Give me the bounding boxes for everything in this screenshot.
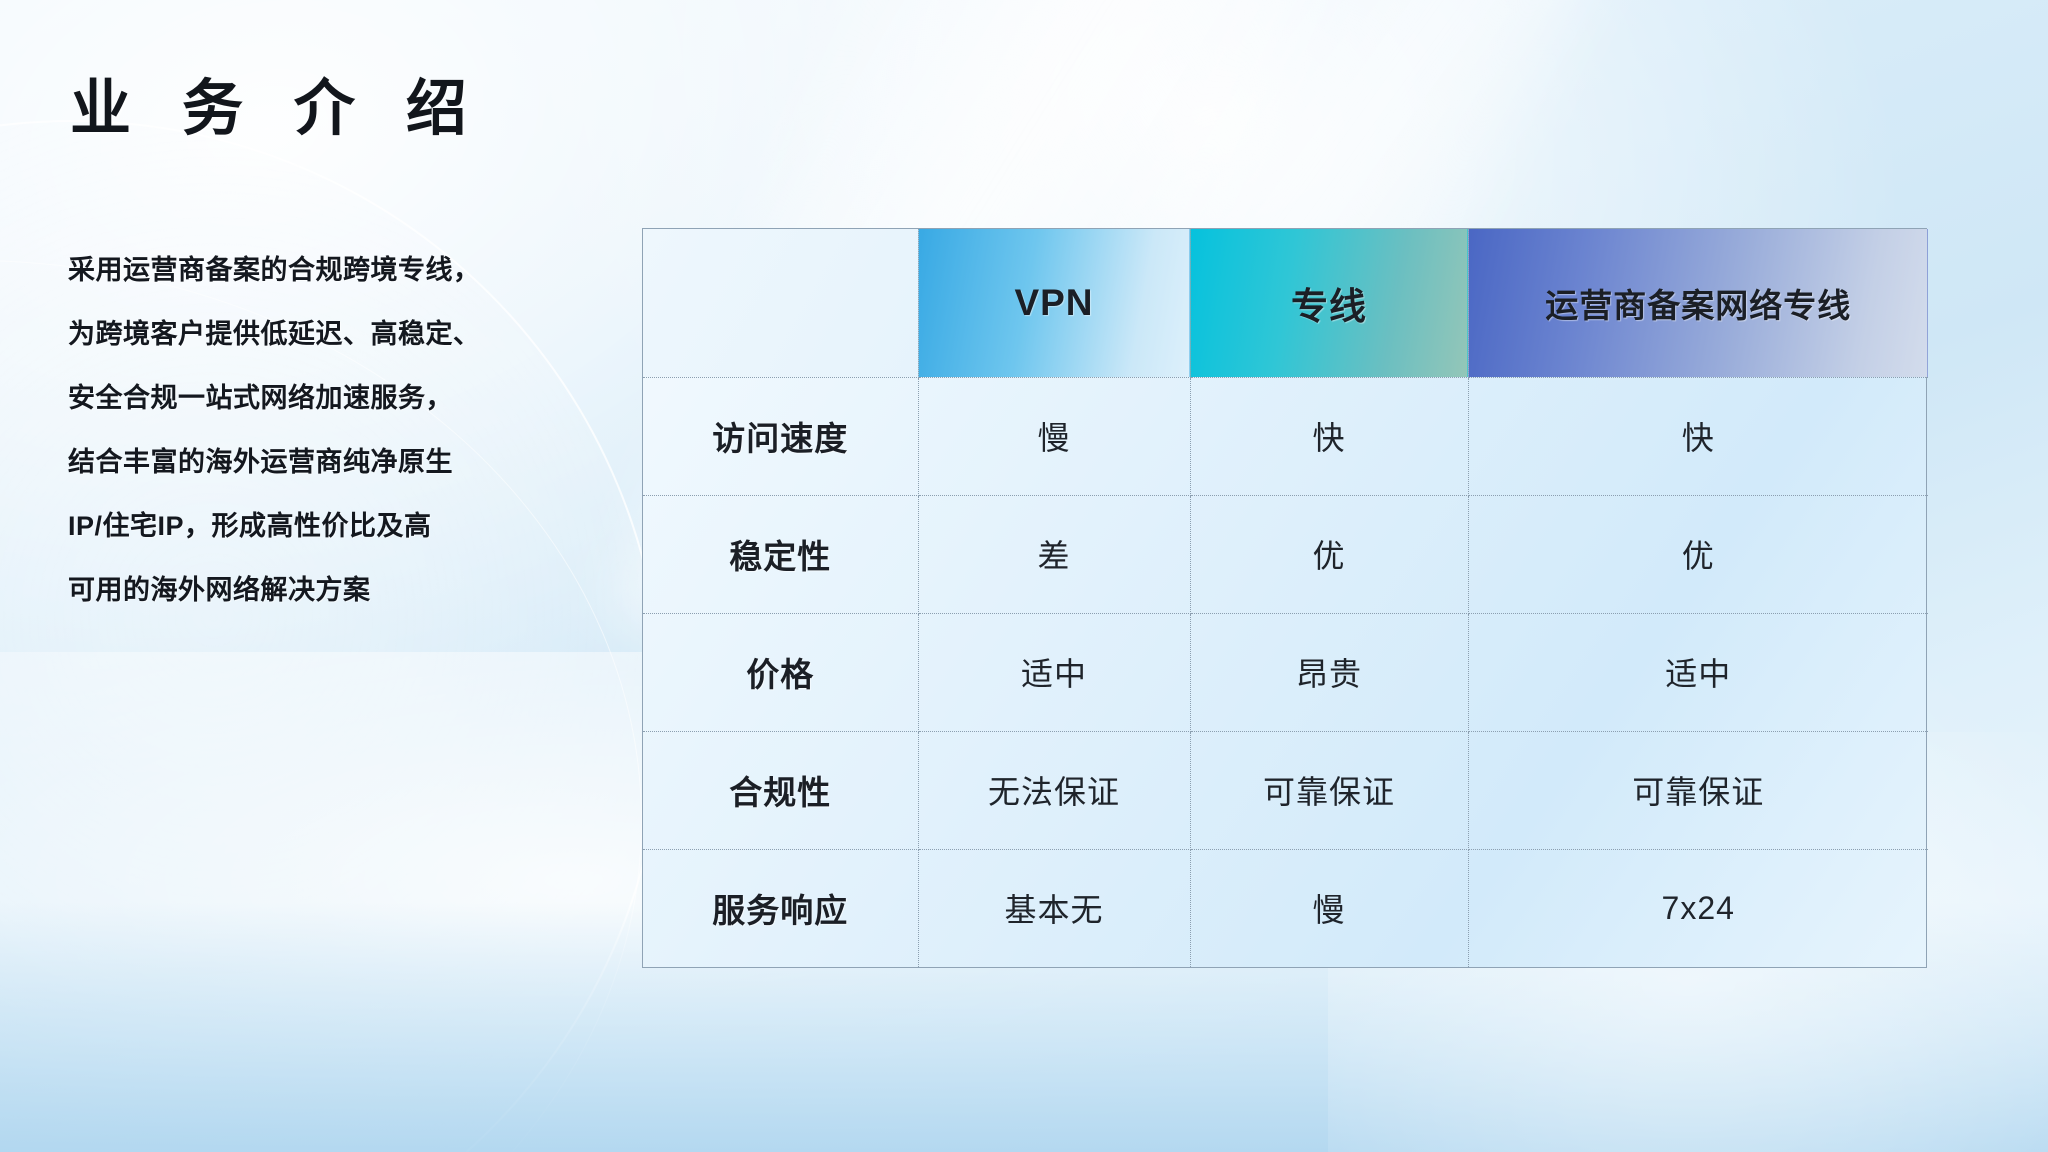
intro-line: 结合丰富的海外运营商纯净原生 — [68, 430, 628, 494]
cell-value: 快 — [1190, 377, 1468, 495]
table-body: 访问速度 慢 快 快 稳定性 差 优 优 价格 适中 昂贵 适中 — [643, 377, 1928, 967]
cell-value: 可靠保证 — [1468, 731, 1928, 849]
table-row: 访问速度 慢 快 快 — [643, 377, 1928, 495]
header-label-isp-registered-line: 运营商备案网络专线 — [1545, 287, 1851, 324]
cell-value: 7x24 — [1468, 849, 1928, 967]
cell-value: 优 — [1468, 495, 1928, 613]
table-header: VPN 专线 运营商备案网络专线 — [643, 229, 1928, 377]
cell-value: 适中 — [918, 613, 1190, 731]
cell-value: 优 — [1190, 495, 1468, 613]
row-label: 合规性 — [643, 731, 918, 849]
header-cell-vpn: VPN — [918, 229, 1190, 377]
row-label: 价格 — [643, 613, 918, 731]
table-header-row: VPN 专线 运营商备案网络专线 — [643, 229, 1928, 377]
cell-value: 可靠保证 — [1190, 731, 1468, 849]
table-row: 服务响应 基本无 慢 7x24 — [643, 849, 1928, 967]
table-row: 稳定性 差 优 优 — [643, 495, 1928, 613]
intro-line: 可用的海外网络解决方案 — [68, 558, 628, 622]
cell-value: 慢 — [1190, 849, 1468, 967]
table-row: 合规性 无法保证 可靠保证 可靠保证 — [643, 731, 1928, 849]
header-label-dedicated-line: 专线 — [1291, 286, 1367, 327]
slide-canvas: 业 务 介 绍 采用运营商备案的合规跨境专线， 为跨境客户提供低延迟、高稳定、 … — [0, 0, 2048, 1152]
cell-value: 适中 — [1468, 613, 1928, 731]
comparison-table-container: VPN 专线 运营商备案网络专线 访问速度 慢 快 快 — [642, 228, 1927, 968]
comparison-table: VPN 专线 运营商备案网络专线 访问速度 慢 快 快 — [643, 229, 1928, 967]
cell-value: 快 — [1468, 377, 1928, 495]
cell-value: 昂贵 — [1190, 613, 1468, 731]
intro-paragraph: 采用运营商备案的合规跨境专线， 为跨境客户提供低延迟、高稳定、 安全合规一站式网… — [68, 238, 628, 622]
header-cell-blank — [643, 229, 918, 377]
cell-value: 基本无 — [918, 849, 1190, 967]
page-title: 业 务 介 绍 — [70, 58, 484, 147]
intro-line: 为跨境客户提供低延迟、高稳定、 — [68, 302, 628, 366]
intro-line: 安全合规一站式网络加速服务， — [68, 366, 628, 430]
cell-value: 差 — [918, 495, 1190, 613]
intro-line: 采用运营商备案的合规跨境专线， — [68, 238, 628, 302]
cell-value: 无法保证 — [918, 731, 1190, 849]
row-label: 稳定性 — [643, 495, 918, 613]
table-row: 价格 适中 昂贵 适中 — [643, 613, 1928, 731]
row-label: 访问速度 — [643, 377, 918, 495]
row-label: 服务响应 — [643, 849, 918, 967]
header-cell-dedicated-line: 专线 — [1190, 229, 1468, 377]
header-cell-isp-registered-line: 运营商备案网络专线 — [1468, 229, 1928, 377]
cell-value: 慢 — [918, 377, 1190, 495]
header-label-vpn: VPN — [1014, 282, 1093, 323]
intro-line: IP/住宅IP，形成高性价比及高 — [68, 494, 628, 558]
